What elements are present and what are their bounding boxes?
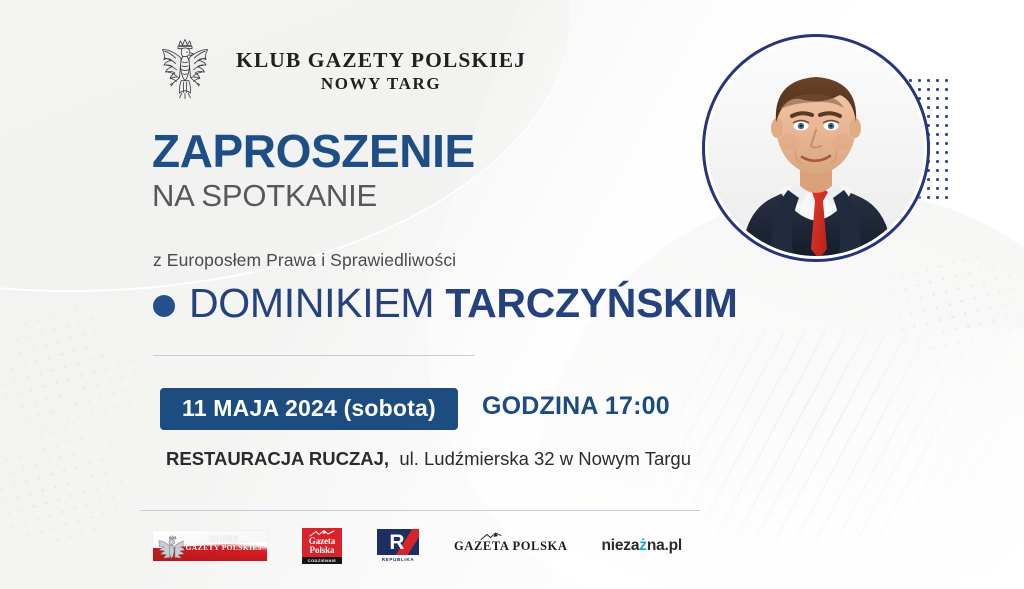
niezalezna-wordmark: niezażna.pl — [602, 537, 683, 555]
background-corner-fade — [664, 329, 1024, 589]
niezalezna-text-before: nieza — [602, 537, 640, 554]
kgp-eagle-icon — [158, 533, 184, 559]
republika-letter: R — [389, 532, 404, 553]
event-time: GODZINA 17:00 — [482, 394, 670, 419]
page-title: ZAPROSZENIE — [152, 128, 475, 174]
kgp-wordmark: KLUBY GAZETY POLSKIEJ — [186, 535, 262, 552]
venue-address: ul. Ludźmierska 32 w Nowym Targu — [399, 448, 691, 469]
polish-eagle-icon — [146, 30, 224, 108]
guest-name: DOMINIKIEM TARCZYŃSKIM — [189, 283, 737, 324]
divider-bottom — [140, 510, 700, 511]
guest-role: z Europosłem Prawa i Sprawiedliwości — [153, 250, 456, 271]
guest-last-name: TARCZYŃSKIM — [445, 280, 737, 326]
guest-name-row: DOMINIKIEM TARCZYŃSKIM — [153, 283, 737, 324]
invitation-poster: KLUB GAZETY POLSKIEJ NOWY TARG ZAPROSZEN… — [0, 0, 1024, 589]
bullet-dot-icon — [153, 295, 175, 317]
club-name-line2: NOWY TARG — [321, 73, 441, 94]
gazeta-polska-strip: CODZIENNIE — [302, 557, 342, 564]
republika-wordmark: REPUBLIKA — [382, 557, 415, 562]
niezalezna-text-accent: ż — [639, 537, 647, 554]
niezalezna-text: niezażna.pl — [602, 537, 683, 555]
gazeta-polska-logo: Gazeta Polska CODZIENNIE — [302, 528, 342, 564]
niezalezna-text-after: na.pl — [647, 537, 682, 554]
gazeta-polska-wordmark-text: GAZETA POLSKA — [454, 539, 568, 554]
gazeta-polska-line2: Polska — [310, 546, 335, 555]
republika-mark-icon: R — [377, 529, 419, 555]
event-venue: RESTAURACJA RUCZAJ, ul. Ludźmierska 32 w… — [166, 450, 691, 469]
republika-logo: R REPUBLIKA — [376, 529, 420, 563]
page-subtitle: NA SPOTKANIE — [152, 180, 377, 211]
event-date-badge: 11 MAJA 2024 (sobota) — [160, 388, 458, 430]
kgp-line2: GAZETY POLSKIEJ — [186, 544, 262, 553]
footer-logo-strip: KLUBY GAZETY POLSKIEJ Gazeta Polska CODZ… — [152, 528, 682, 564]
club-name-line1: KLUB GAZETY POLSKIEJ — [236, 48, 526, 73]
guest-portrait — [702, 34, 930, 262]
avatar — [708, 40, 924, 256]
venue-name: RESTAURACJA RUCZAJ, — [166, 448, 389, 469]
divider-top — [153, 355, 475, 356]
guest-first-name: DOMINIKIEM — [189, 280, 434, 326]
club-logo-text: KLUB GAZETY POLSKIEJ NOWY TARG — [236, 44, 526, 94]
club-logo: KLUB GAZETY POLSKIEJ NOWY TARG — [146, 30, 526, 108]
kluby-gazety-polskiej-logo: KLUBY GAZETY POLSKIEJ — [152, 530, 268, 562]
gazeta-polska-wordmark: GAZETA POLSKA — [454, 539, 568, 554]
